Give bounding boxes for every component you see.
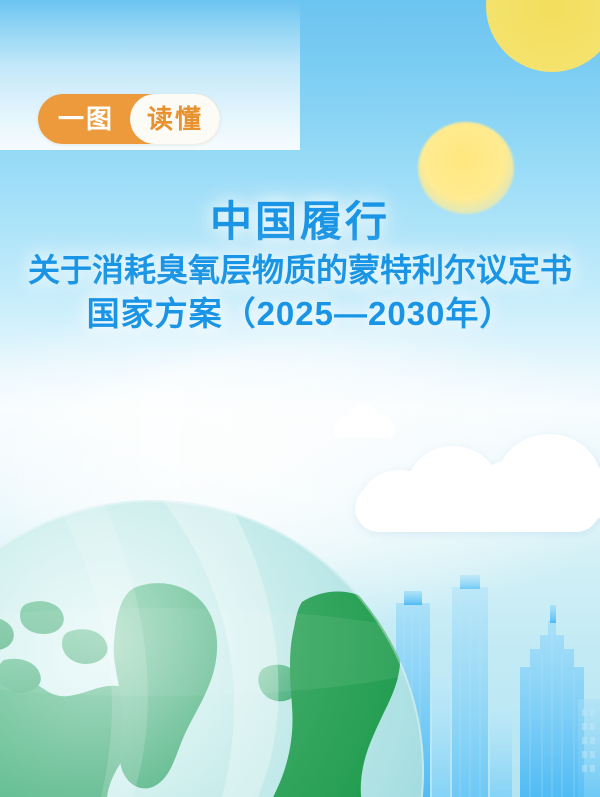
- title-line-1: 中国履行: [0, 198, 600, 247]
- read-in-one-picture-badge[interactable]: 一图 读懂: [38, 94, 220, 144]
- infographic-poster: 一图 读懂 中国履行 关于消耗臭氧层物质的蒙特利尔议定书 国家方案（2025—2…: [0, 0, 600, 797]
- title-line-3: 国家方案（2025—2030年）: [0, 295, 600, 333]
- badge-right-label: 读懂: [130, 94, 220, 144]
- globe-icon: [0, 492, 432, 797]
- page-title: 中国履行 关于消耗臭氧层物质的蒙特利尔议定书 国家方案（2025—2030年）: [0, 198, 600, 333]
- title-line-2: 关于消耗臭氧层物质的蒙特利尔议定书: [0, 252, 600, 289]
- badge-left-label: 一图: [38, 94, 130, 144]
